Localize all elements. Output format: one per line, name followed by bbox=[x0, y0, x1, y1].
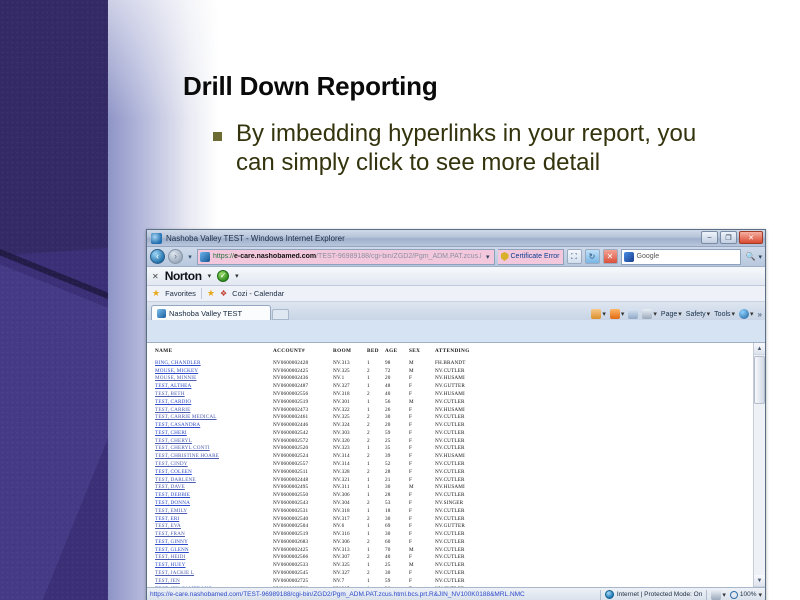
tools-dropdown-icon[interactable]: ▾ bbox=[732, 310, 736, 318]
norton-check-dropdown-icon[interactable]: ▾ bbox=[235, 272, 239, 280]
magnifier-icon bbox=[730, 591, 738, 599]
cell-attending: NV.HUSAMI bbox=[435, 390, 495, 398]
patient-name-link[interactable]: BING, CHANDLER bbox=[155, 360, 201, 366]
cell-sex: M bbox=[409, 398, 435, 406]
table-row: MOUSE, MICKEYNV0600002425NV.325272MNV.CU… bbox=[155, 367, 495, 375]
cell-account: NV0600002545 bbox=[273, 569, 333, 577]
zoom-dropdown-icon[interactable]: ▾ bbox=[758, 591, 762, 599]
compatibility-view-button[interactable]: ⛶ bbox=[567, 249, 582, 264]
cell-age: 60 bbox=[385, 538, 409, 546]
patient-name-link[interactable]: MOUSE, MICKEY bbox=[155, 368, 198, 374]
table-row: TEST, COLEENNV0600002511NV.328228FNV.CUT… bbox=[155, 468, 495, 476]
cell-room: NV.324 bbox=[333, 421, 367, 429]
cell-sex: M bbox=[409, 561, 435, 569]
search-icon[interactable]: 🔍 bbox=[744, 252, 756, 261]
norton-safe-check-icon[interactable]: ✓ bbox=[217, 270, 229, 282]
command-overflow-icon[interactable]: » bbox=[758, 310, 762, 319]
certificate-error-button[interactable]: Certificate Error bbox=[498, 249, 564, 265]
tab-bar: Nashoba Valley TEST ▾ ▾ ▾ Page▾ Safety▾ … bbox=[147, 302, 765, 320]
cell-attending: NV.CUTLER bbox=[435, 491, 495, 499]
decorative-texture bbox=[0, 0, 108, 600]
patient-table: NAME ACCOUNT# ROOM BED AGE SEX ATTENDING… bbox=[155, 348, 495, 587]
cell-account: NV0600002566 bbox=[273, 554, 333, 562]
vertical-scrollbar[interactable]: ▲ ▼ bbox=[753, 343, 765, 587]
cell-room: NV.328 bbox=[333, 468, 367, 476]
patient-name-link[interactable]: TEST, HUEY bbox=[155, 562, 186, 568]
cell-name: TEST, JACKIE L bbox=[155, 569, 273, 577]
table-row: TEST, FRANNV0600002519NV.316130FNV.CUTLE… bbox=[155, 530, 495, 538]
norton-dropdown-icon[interactable]: ▾ bbox=[208, 272, 212, 280]
scrollbar-thumb[interactable] bbox=[754, 356, 765, 404]
list-item: By imbedding hyperlinks in your report, … bbox=[213, 120, 723, 178]
cell-age: 52 bbox=[385, 460, 409, 468]
favorites-star-icon[interactable]: ★ bbox=[152, 289, 160, 298]
cozi-favicon-icon: ❖ bbox=[220, 289, 227, 298]
cell-account: NV0600002461 bbox=[273, 413, 333, 421]
cell-age: 40 bbox=[385, 554, 409, 562]
table-row: TEST, HEIDINV0600002566NV.307240FNV.CUTL… bbox=[155, 554, 495, 562]
table-row: TEST, DONNANV0600002543NV.304253FNV.SING… bbox=[155, 499, 495, 507]
cell-account: NV0600002520 bbox=[273, 445, 333, 453]
cell-bed: 1 bbox=[367, 522, 385, 530]
cell-bed: 2 bbox=[367, 515, 385, 523]
cell-bed: 2 bbox=[367, 554, 385, 562]
mail-icon bbox=[628, 309, 638, 319]
patient-name-link[interactable]: TEST, CASANDRA bbox=[155, 422, 200, 428]
cell-attending: NV.CUTLER bbox=[435, 367, 495, 375]
patient-name-link[interactable]: MOUSE, MINNIE bbox=[155, 375, 196, 381]
cell-age: 30 bbox=[385, 484, 409, 492]
restore-button[interactable]: ❐ bbox=[720, 231, 737, 244]
feeds-dropdown-icon[interactable]: ▾ bbox=[621, 310, 625, 318]
cell-attending: NV.CUTLER bbox=[435, 577, 495, 585]
page-menu[interactable]: Page▾ bbox=[661, 310, 682, 318]
patient-name-link[interactable]: TEST, ALTHEA bbox=[155, 383, 191, 389]
cell-bed: 2 bbox=[367, 413, 385, 421]
table-row: TEST, GINNYNV0600002683NV.306260FNV.CUTL… bbox=[155, 538, 495, 546]
table-header-row: NAME ACCOUNT# ROOM BED AGE SEX ATTENDING bbox=[155, 348, 495, 359]
cell-sex: F bbox=[409, 515, 435, 523]
cell-bed: 1 bbox=[367, 406, 385, 414]
browser-window-screenshot: Nashoba Valley TEST - Windows Internet E… bbox=[146, 229, 766, 600]
bullet-square-icon bbox=[213, 132, 222, 141]
cell-age: 20 bbox=[385, 421, 409, 429]
cell-bed: 1 bbox=[367, 491, 385, 499]
cell-name: MOUSE, MICKEY bbox=[155, 367, 273, 375]
page-content: NAME ACCOUNT# ROOM BED AGE SEX ATTENDING… bbox=[147, 342, 765, 587]
cell-name: MOUSE, MINNIE bbox=[155, 375, 273, 383]
cell-bed: 1 bbox=[367, 460, 385, 468]
google-icon bbox=[624, 252, 634, 262]
patient-name-link[interactable]: TEST, CHERYL bbox=[155, 438, 192, 444]
globe-icon bbox=[605, 590, 614, 599]
cell-account: NV0600002572 bbox=[273, 437, 333, 445]
cell-room: NV.304 bbox=[333, 499, 367, 507]
cell-name: TEST, GINNY bbox=[155, 538, 273, 546]
cell-attending: NV.CUTLER bbox=[435, 413, 495, 421]
cell-age: 20 bbox=[385, 375, 409, 383]
cell-bed: 2 bbox=[367, 390, 385, 398]
search-input[interactable]: Google bbox=[621, 249, 741, 265]
cell-account: NV0600002436 bbox=[273, 375, 333, 383]
url-host: e-care.nashobamed.com bbox=[234, 253, 316, 260]
patient-name-link[interactable]: TEST, JACKIE L bbox=[155, 570, 194, 576]
zoom-region-dropdown-icon[interactable]: ▾ bbox=[722, 591, 726, 599]
cell-sex: F bbox=[409, 429, 435, 437]
status-divider-2 bbox=[706, 590, 707, 600]
cell-name: TEST, DAVE bbox=[155, 484, 273, 492]
address-dropdown-icon[interactable]: ▾ bbox=[484, 253, 492, 261]
cell-bed: 2 bbox=[367, 499, 385, 507]
cell-name: TEST, CHRISTINE HOARE bbox=[155, 452, 273, 460]
column-header-bed: BED bbox=[367, 348, 385, 359]
patient-name-link[interactable]: TEST, GINNY bbox=[155, 539, 188, 545]
cell-name: TEST, CARDIO bbox=[155, 398, 273, 406]
column-header-name: NAME bbox=[155, 348, 273, 359]
norton-toolbar: ✕ Norton ▾ ✓ ▾ bbox=[147, 267, 765, 286]
cell-attending: NV.CUTLER bbox=[435, 561, 495, 569]
cell-sex: F bbox=[409, 413, 435, 421]
new-tab-button[interactable] bbox=[272, 309, 289, 320]
patient-name-link[interactable]: TEST, DAVE bbox=[155, 484, 185, 490]
tools-menu[interactable]: Tools▾ bbox=[714, 310, 735, 318]
table-row: TEST, EVANV0600002504NV.6169FNV.GUTTER bbox=[155, 522, 495, 530]
cell-attending: NV.CUTLER bbox=[435, 429, 495, 437]
cell-bed: 1 bbox=[367, 476, 385, 484]
cell-room: NV.316 bbox=[333, 530, 367, 538]
cell-bed: 1 bbox=[367, 359, 385, 367]
cell-age: 59 bbox=[385, 429, 409, 437]
cell-bed: 1 bbox=[367, 382, 385, 390]
cell-bed: 2 bbox=[367, 468, 385, 476]
cell-room: NV.303 bbox=[333, 429, 367, 437]
patient-name-link[interactable]: TEST, JEN bbox=[155, 578, 180, 584]
cell-age: 30 bbox=[385, 569, 409, 577]
cell-age: 48 bbox=[385, 382, 409, 390]
cell-sex: F bbox=[409, 406, 435, 414]
home-button[interactable]: ▾ bbox=[591, 309, 606, 319]
column-header-room: ROOM bbox=[333, 348, 367, 359]
table-row: TEST, DAVENV0600002495NV.311130MNV.HUSAM… bbox=[155, 484, 495, 492]
zoom-region-button[interactable]: ▾ bbox=[711, 590, 726, 600]
cell-attending: NV.SINGER bbox=[435, 499, 495, 507]
table-row: TEST, BETHNV0600002556NV.318240FNV.HUSAM… bbox=[155, 390, 495, 398]
cell-age: 39 bbox=[385, 452, 409, 460]
cell-sex: M bbox=[409, 367, 435, 375]
cell-age: 98 bbox=[385, 359, 409, 367]
zoom-level-label: 100% bbox=[740, 591, 757, 598]
cell-room: NV.301 bbox=[333, 398, 367, 406]
address-input[interactable]: https://e-care.nashobamed.com/TEST-96989… bbox=[197, 249, 495, 265]
patient-name-link[interactable]: TEST, CARRIE MEDICAL bbox=[155, 414, 217, 420]
cell-bed: 1 bbox=[367, 546, 385, 554]
cell-room: NV.327 bbox=[333, 569, 367, 577]
cell-account: NV0600002511 bbox=[273, 468, 333, 476]
forward-button[interactable]: › bbox=[168, 249, 183, 264]
cell-age: 35 bbox=[385, 445, 409, 453]
table-row: TEST, CARDIONV0600002519NV.301156MNV.CUT… bbox=[155, 398, 495, 406]
cell-attending: NV.HUSAMI bbox=[435, 452, 495, 460]
patient-name-link[interactable]: TEST, CHERI bbox=[155, 430, 187, 436]
cell-account: NV0600002543 bbox=[273, 499, 333, 507]
cell-age: 59 bbox=[385, 577, 409, 585]
zoom-level-control[interactable]: 100% ▾ bbox=[730, 591, 762, 599]
cell-sex: F bbox=[409, 522, 435, 530]
cell-room: NV.321 bbox=[333, 476, 367, 484]
refresh-button[interactable]: ↻ bbox=[585, 249, 600, 264]
table-row: TEST, HUEYNV0600002533NV.325125MNV.CUTLE… bbox=[155, 561, 495, 569]
table-body: BING, CHANDLERNV0600002428NV.313198MFH.B… bbox=[155, 359, 495, 587]
cell-bed: 1 bbox=[367, 484, 385, 492]
cell-age: 30 bbox=[385, 530, 409, 538]
table-row: TEST, CHRISTINE HOARENV0600002524NV.3142… bbox=[155, 452, 495, 460]
norton-close-icon[interactable]: ✕ bbox=[152, 272, 159, 281]
cell-attending: NV.HUSAMI bbox=[435, 375, 495, 383]
bullet-list: By imbedding hyperlinks in your report, … bbox=[213, 120, 723, 178]
add-favorite-icon[interactable]: ★ bbox=[207, 289, 215, 298]
cell-bed: 1 bbox=[367, 577, 385, 585]
home-dropdown-icon[interactable]: ▾ bbox=[602, 310, 606, 318]
cell-bed: 2 bbox=[367, 437, 385, 445]
cell-name: TEST, HUEY bbox=[155, 561, 273, 569]
help-icon bbox=[739, 309, 749, 319]
cell-sex: M bbox=[409, 484, 435, 492]
cell-bed: 1 bbox=[367, 507, 385, 515]
patient-name-link[interactable]: TEST, EVA bbox=[155, 523, 181, 529]
browser-status-bar: https://e-care.nashobamed.com/TEST-96989… bbox=[147, 587, 765, 600]
read-mail-button[interactable] bbox=[628, 309, 638, 319]
table-row: TEST, CHERYL CONTINV0600002520NV.323135F… bbox=[155, 445, 495, 453]
table-row: TEST, JENNV0600002725NV.7159FNV.CUTLER bbox=[155, 577, 495, 585]
cell-sex: F bbox=[409, 554, 435, 562]
tab-nashoba-valley-test[interactable]: Nashoba Valley TEST bbox=[151, 305, 271, 320]
help-dropdown-icon[interactable]: ▾ bbox=[750, 310, 754, 318]
table-row: TEST, ALTHEANV0600002487NV.327148FNV.GUT… bbox=[155, 382, 495, 390]
page-dropdown-icon[interactable]: ▾ bbox=[678, 310, 682, 318]
security-zone-indicator[interactable]: Internet | Protected Mode: On bbox=[605, 590, 703, 599]
cell-sex: F bbox=[409, 437, 435, 445]
cell-bed: 2 bbox=[367, 452, 385, 460]
patient-name-link[interactable]: TEST, GLENN bbox=[155, 547, 189, 553]
table-row: TEST, CASANDRANV0600002446NV.324220FNV.C… bbox=[155, 421, 495, 429]
cell-room: NV.325 bbox=[333, 413, 367, 421]
window-controls: – ❐ ✕ bbox=[701, 231, 763, 244]
tab-favicon-icon bbox=[157, 309, 166, 318]
favorite-link-cozi-calendar[interactable]: Cozi - Calendar bbox=[232, 289, 284, 298]
cell-room: NV.318 bbox=[333, 390, 367, 398]
page-menu-label: Page bbox=[661, 311, 677, 318]
address-url-text: https://e-care.nashobamed.com/TEST-96989… bbox=[213, 253, 481, 260]
home-icon bbox=[591, 309, 601, 319]
safety-menu[interactable]: Safety▾ bbox=[686, 310, 710, 318]
cell-room: NV.322 bbox=[333, 406, 367, 414]
status-url-text: https://e-care.nashobamed.com/TEST-96989… bbox=[150, 591, 596, 598]
cell-account: NV0600002540 bbox=[273, 515, 333, 523]
cell-attending: NV.CUTLER bbox=[435, 569, 495, 577]
table-row: TEST, CARRIE MEDICALNV0600002461NV.32523… bbox=[155, 413, 495, 421]
help-button[interactable]: ▾ bbox=[739, 309, 754, 319]
cell-attending: NV.CUTLER bbox=[435, 460, 495, 468]
table-row: TEST, JACKIE LNV0600002545NV.327230FNV.C… bbox=[155, 569, 495, 577]
cell-room: NV.1 bbox=[333, 375, 367, 383]
print-button[interactable]: ▾ bbox=[642, 309, 657, 319]
window-title: Nashoba Valley TEST - Windows Internet E… bbox=[166, 234, 345, 243]
scroll-up-arrow-icon[interactable]: ▲ bbox=[754, 343, 766, 355]
recent-pages-dropdown-icon[interactable]: ▾ bbox=[186, 253, 194, 261]
cell-sex: M bbox=[409, 546, 435, 554]
table-row: TEST, CHERYLNV0600002572NV.320225FNV.CUT… bbox=[155, 437, 495, 445]
cell-attending: NV.CUTLER bbox=[435, 468, 495, 476]
patient-name-link[interactable]: TEST, CHRISTINE HOARE bbox=[155, 453, 219, 459]
cell-name: TEST, JEN bbox=[155, 577, 273, 585]
column-header-attending: ATTENDING bbox=[435, 348, 495, 359]
cell-bed: 1 bbox=[367, 445, 385, 453]
patient-name-link[interactable]: TEST, BETH bbox=[155, 391, 185, 397]
cell-attending: NV.CUTLER bbox=[435, 530, 495, 538]
cell-attending: NV.CUTLER bbox=[435, 421, 495, 429]
column-header-sex: SEX bbox=[409, 348, 435, 359]
column-header-account: ACCOUNT# bbox=[273, 348, 333, 359]
cell-sex: F bbox=[409, 382, 435, 390]
scroll-down-arrow-icon[interactable]: ▼ bbox=[754, 575, 766, 587]
patient-name-link[interactable]: TEST, COLEEN bbox=[155, 469, 192, 475]
cell-name: TEST, DARLENE bbox=[155, 476, 273, 484]
decorative-left-panel bbox=[0, 0, 108, 600]
search-dropdown-icon[interactable]: ▾ bbox=[758, 253, 762, 261]
certificate-error-label: Certificate Error bbox=[511, 253, 560, 260]
patient-name-link[interactable]: TEST, DEBBIE bbox=[155, 492, 190, 498]
cell-bed: 2 bbox=[367, 421, 385, 429]
cell-age: 25 bbox=[385, 437, 409, 445]
cell-room: NV.327 bbox=[333, 382, 367, 390]
patient-name-link[interactable]: TEST, CINDY bbox=[155, 461, 188, 467]
table-row: TEST, GLENNNV0600002425NV.313170MNV.CUTL… bbox=[155, 546, 495, 554]
norton-logo: Norton bbox=[165, 269, 202, 283]
table-row: TEST, ERINV0600002540NV.317230FNV.CUTLER bbox=[155, 515, 495, 523]
cell-bed: 1 bbox=[367, 398, 385, 406]
back-button[interactable]: ‹ bbox=[150, 249, 165, 264]
cell-room: NV.306 bbox=[333, 491, 367, 499]
cell-age: 25 bbox=[385, 561, 409, 569]
safety-menu-label: Safety bbox=[686, 311, 706, 318]
cell-sex: F bbox=[409, 569, 435, 577]
cell-age: 28 bbox=[385, 468, 409, 476]
cell-room: NV.313 bbox=[333, 359, 367, 367]
cell-sex: F bbox=[409, 460, 435, 468]
cell-name: TEST, DONNA bbox=[155, 499, 273, 507]
cell-attending: NV.HUSAMI bbox=[435, 484, 495, 492]
close-button[interactable]: ✕ bbox=[739, 231, 763, 244]
page-title: Drill Down Reporting bbox=[183, 71, 438, 102]
cell-bed: 2 bbox=[367, 429, 385, 437]
bullet-text: By imbedding hyperlinks in your report, … bbox=[236, 120, 723, 178]
patient-report: NAME ACCOUNT# ROOM BED AGE SEX ATTENDING… bbox=[147, 343, 753, 587]
cell-name: TEST, DEBBIE bbox=[155, 491, 273, 499]
cell-name: TEST, ALTHEA bbox=[155, 382, 273, 390]
patient-name-link[interactable]: TEST, EMILY bbox=[155, 508, 187, 514]
cell-age: 56 bbox=[385, 398, 409, 406]
cell-account: NV0600002495 bbox=[273, 484, 333, 492]
patient-name-link[interactable]: TEST, DARLENE bbox=[155, 477, 196, 483]
column-header-age: AGE bbox=[385, 348, 409, 359]
cell-name: BING, CHANDLER bbox=[155, 359, 273, 367]
cell-attending: NV.CUTLER bbox=[435, 546, 495, 554]
cell-name: TEST, CHERI bbox=[155, 429, 273, 437]
patient-name-link[interactable]: TEST, FRAN bbox=[155, 531, 185, 537]
table-row: TEST, CARRIENV0600002473NV.322126FNV.HUS… bbox=[155, 406, 495, 414]
cell-room: NV.306 bbox=[333, 538, 367, 546]
cell-sex: F bbox=[409, 452, 435, 460]
cell-account: NV0600002473 bbox=[273, 406, 333, 414]
cell-account: NV0600002519 bbox=[273, 530, 333, 538]
table-row: TEST, CINDYNV0600002557NV.314152FNV.CUTL… bbox=[155, 460, 495, 468]
status-divider bbox=[600, 590, 601, 600]
patient-name-link[interactable]: TEST, CARDIO bbox=[155, 399, 191, 405]
cell-sex: F bbox=[409, 390, 435, 398]
cell-name: TEST, CASANDRA bbox=[155, 421, 273, 429]
cell-account: NV0600002683 bbox=[273, 538, 333, 546]
patient-name-link[interactable]: TEST, CARRIE bbox=[155, 407, 190, 413]
patient-name-link[interactable]: TEST, DONNA bbox=[155, 500, 190, 506]
site-favicon-icon bbox=[200, 252, 210, 262]
cell-account: NV0600002533 bbox=[273, 561, 333, 569]
cell-sex: F bbox=[409, 530, 435, 538]
cell-age: 53 bbox=[385, 499, 409, 507]
print-dropdown-icon[interactable]: ▾ bbox=[653, 310, 657, 318]
table-row: TEST, DEBBIENV0600002550NV.306128FNV.CUT… bbox=[155, 491, 495, 499]
rss-feed-icon bbox=[610, 309, 620, 319]
patient-name-link[interactable]: TEST, HEIDI bbox=[155, 554, 185, 560]
toolbar-divider bbox=[201, 288, 202, 299]
cell-age: 30 bbox=[385, 515, 409, 523]
stop-button[interactable]: ✕ bbox=[603, 249, 618, 264]
cell-age: 26 bbox=[385, 406, 409, 414]
favorites-label[interactable]: Favorites bbox=[165, 289, 196, 298]
cell-room: NV.318 bbox=[333, 507, 367, 515]
cell-sex: F bbox=[409, 491, 435, 499]
cell-attending: NV.GUTTER bbox=[435, 382, 495, 390]
table-row: TEST, CHERINV0600002542NV.303259FNV.CUTL… bbox=[155, 429, 495, 437]
cell-age: 69 bbox=[385, 522, 409, 530]
cell-attending: NV.CUTLER bbox=[435, 554, 495, 562]
feeds-button[interactable]: ▾ bbox=[610, 309, 625, 319]
internet-explorer-icon bbox=[151, 233, 162, 244]
cell-age: 21 bbox=[385, 476, 409, 484]
cell-account: NV0600002448 bbox=[273, 476, 333, 484]
cell-account: NV0600002425 bbox=[273, 367, 333, 375]
cell-account: NV0600002557 bbox=[273, 460, 333, 468]
patient-name-link[interactable]: TEST, ERI bbox=[155, 516, 179, 522]
cell-account: NV0600002446 bbox=[273, 421, 333, 429]
tools-menu-label: Tools bbox=[714, 311, 730, 318]
cell-sex: F bbox=[409, 445, 435, 453]
safety-dropdown-icon[interactable]: ▾ bbox=[707, 310, 711, 318]
cell-sex: F bbox=[409, 577, 435, 585]
cell-room: NV.307 bbox=[333, 554, 367, 562]
cell-age: 40 bbox=[385, 390, 409, 398]
cell-sex: F bbox=[409, 507, 435, 515]
cell-account: NV0600002550 bbox=[273, 491, 333, 499]
minimize-button[interactable]: – bbox=[701, 231, 718, 244]
patient-name-link[interactable]: TEST, CHERYL CONTI bbox=[155, 445, 210, 451]
cell-room: NV.325 bbox=[333, 367, 367, 375]
cell-name: TEST, COLEEN bbox=[155, 468, 273, 476]
cell-account: NV0600002556 bbox=[273, 390, 333, 398]
search-placeholder: Google bbox=[637, 253, 660, 260]
cell-name: TEST, BETH bbox=[155, 390, 273, 398]
cell-age: 30 bbox=[385, 413, 409, 421]
cell-room: NV.313 bbox=[333, 546, 367, 554]
